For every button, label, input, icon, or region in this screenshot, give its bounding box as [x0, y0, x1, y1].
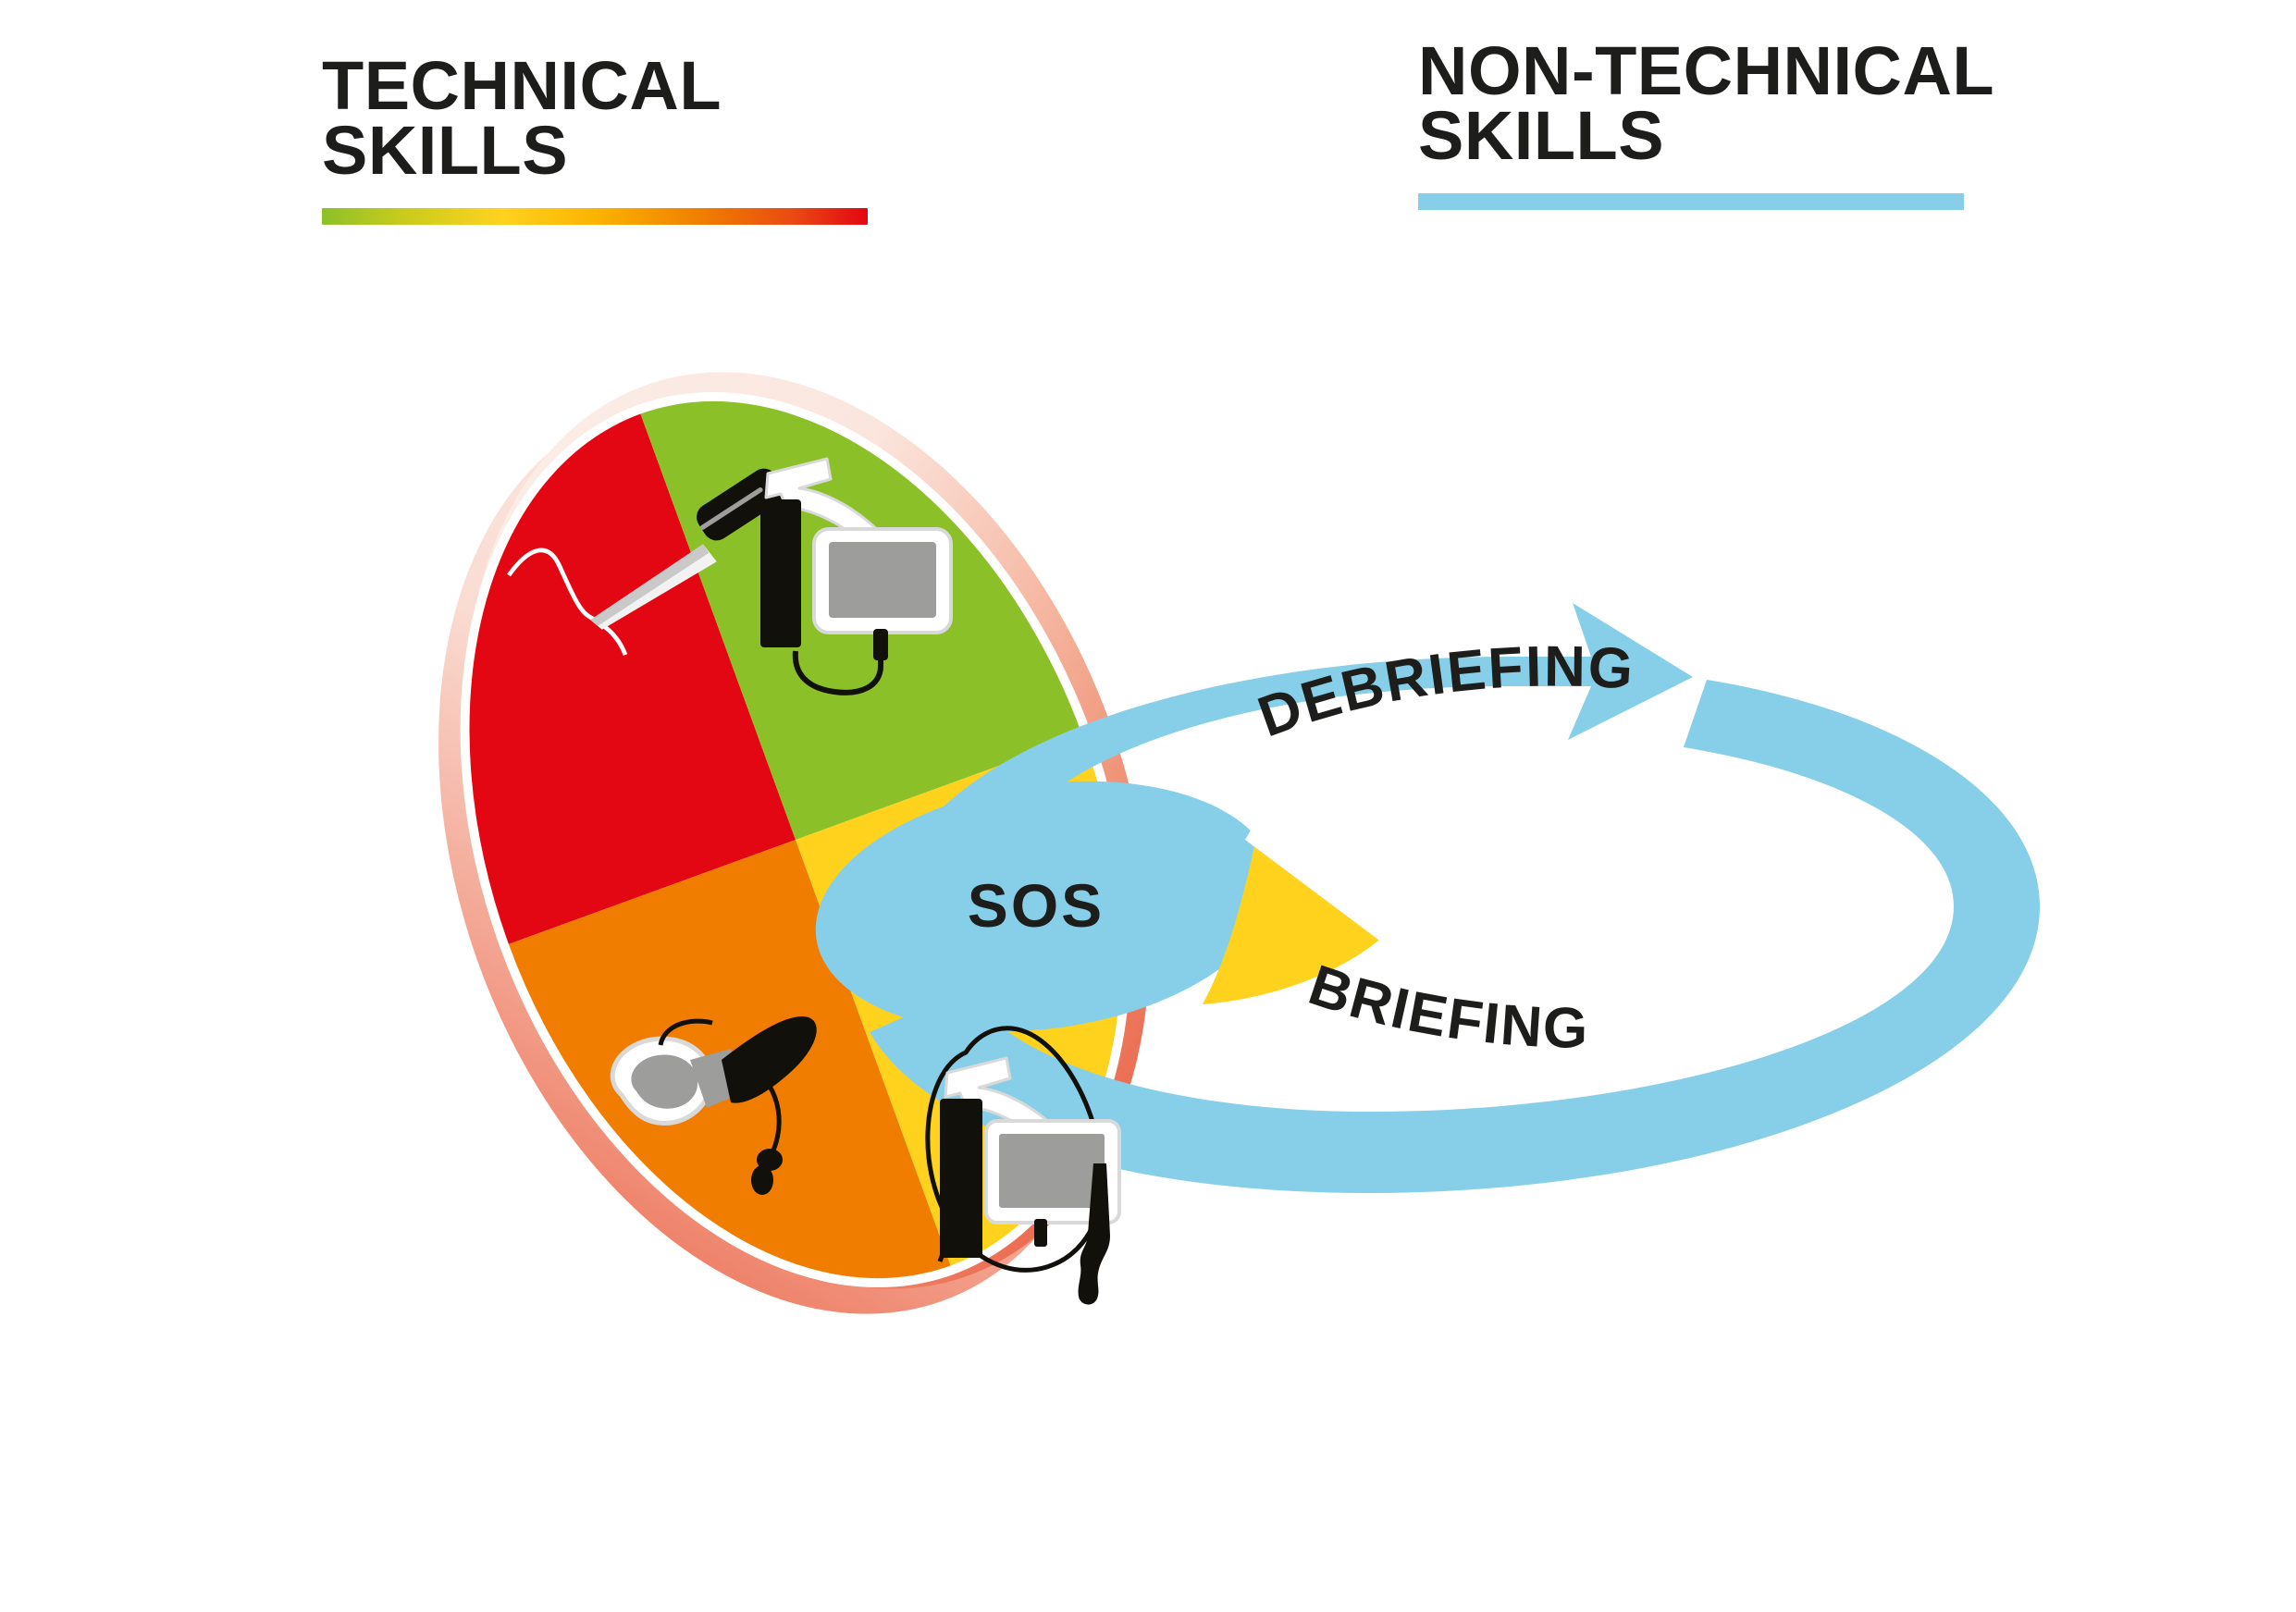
sos-label: SOS [968, 871, 1105, 940]
technical-skills-gradient-rule [322, 208, 868, 225]
nontechnical-skills-heading-block: NON-TECHNICAL SKILLS [1418, 39, 1994, 210]
briefing-label: BRIEFING [1302, 954, 1590, 1061]
nontechnical-skills-title: NON-TECHNICAL SKILLS [1418, 39, 1994, 169]
nontechnical-skills-blue-rule [1418, 193, 1964, 210]
infographic-canvas: TECHNICAL SKILLS NON-TECHNICAL SKILLS [0, 0, 2296, 1612]
technical-skills-heading-block: TECHNICAL SKILLS [322, 54, 868, 225]
skills-diagram: SOS DEBRIEFING BRIEFING [278, 259, 2109, 1554]
technical-skills-title: TECHNICAL SKILLS [322, 54, 868, 184]
